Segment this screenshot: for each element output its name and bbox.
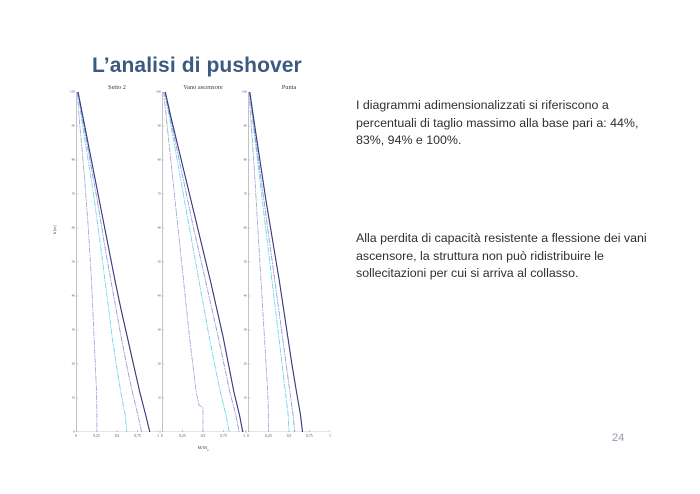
y-tick-label: 80 — [72, 158, 75, 161]
y-tick-label: 10 — [72, 396, 75, 399]
plot-area — [162, 92, 244, 432]
axis-spine — [249, 92, 331, 432]
chart-panel-punta: Punta 1009080706050403020100 00,250,50,7… — [248, 84, 330, 436]
y-tick-label: 30 — [158, 328, 161, 331]
y-tick-label: 10 — [158, 396, 161, 399]
body-paragraph-2: Alla perdita di capacità resistente a fl… — [356, 230, 656, 283]
x-tick-label: 0,5 — [115, 434, 120, 438]
x-tick-labels: 00,250,50,751 — [162, 434, 244, 444]
series-line-94pct — [250, 92, 295, 432]
x-tick-label: 1 — [157, 434, 159, 438]
y-tick-label: 80 — [158, 158, 161, 161]
series-line-83pct — [164, 92, 229, 432]
y-tick-label: 50 — [158, 260, 161, 263]
y-tick-label: 100 — [156, 90, 161, 93]
series-line-83pct — [78, 92, 127, 432]
series-line-83pct — [249, 92, 289, 432]
y-tick-label: 60 — [244, 226, 247, 229]
series-line-100pct — [165, 92, 242, 432]
pushover-chart-figure: h [m] Setto 2 1009080706050403020100 00,… — [58, 84, 336, 466]
x-tick-label: 0,5 — [201, 434, 206, 438]
x-tick-label: 0 — [75, 434, 77, 438]
x-tick-label: 0,5 — [287, 434, 292, 438]
series-line-44pct — [164, 92, 203, 432]
panel-title: Setto 2 — [76, 84, 158, 91]
y-tick-label: 50 — [244, 260, 247, 263]
y-tick-label: 100 — [242, 90, 247, 93]
y-tick-labels: 1009080706050403020100 — [234, 92, 247, 432]
axis-spine — [77, 92, 159, 432]
page-title: L’analisi di pushover — [92, 54, 302, 78]
x-tick-label: 0,25 — [265, 434, 271, 438]
series-line-44pct — [249, 92, 269, 432]
x-tick-label: 0 — [247, 434, 249, 438]
x-tick-label: 0,25 — [93, 434, 99, 438]
y-tick-label: 90 — [158, 124, 161, 127]
y-tick-label: 60 — [72, 226, 75, 229]
y-tick-labels: 1009080706050403020100 — [62, 92, 75, 432]
plot-area — [76, 92, 158, 432]
y-tick-label: 30 — [72, 328, 75, 331]
y-tick-label: 70 — [158, 192, 161, 195]
y-tick-label: 70 — [244, 192, 247, 195]
panel-title: Punta — [248, 84, 330, 91]
y-tick-label: 70 — [72, 192, 75, 195]
y-tick-label: 90 — [72, 124, 75, 127]
panel-title: Vano ascensore — [162, 84, 244, 91]
y-tick-label: 30 — [244, 328, 247, 331]
series-line-100pct — [250, 92, 303, 432]
y-tick-label: 20 — [72, 362, 75, 365]
x-tick-labels: 00,250,50,751 — [248, 434, 330, 444]
y-tick-label: 100 — [70, 90, 75, 93]
chart-panel-setto-2: Setto 2 1009080706050403020100 00,250,50… — [76, 84, 158, 436]
x-tick-label: 1 — [243, 434, 245, 438]
x-tick-labels: 00,250,50,751 — [76, 434, 158, 444]
y-tick-label: 80 — [244, 158, 247, 161]
y-tick-label: 40 — [158, 294, 161, 297]
plot-svg — [76, 92, 158, 432]
y-tick-label: 20 — [158, 362, 161, 365]
series-line-94pct — [165, 92, 239, 432]
series-line-100pct — [78, 92, 150, 432]
x-tick-label: 0,75 — [306, 434, 312, 438]
y-tick-label: 50 — [72, 260, 75, 263]
page-number: 24 — [612, 432, 624, 444]
x-tick-label: 0,25 — [179, 434, 185, 438]
y-axis-title: h [m] — [52, 225, 57, 234]
chart-panel-vano-ascensore: Vano ascensore 1009080706050403020100 00… — [162, 84, 244, 436]
x-tick-label: 0,75 — [220, 434, 226, 438]
plot-area — [248, 92, 330, 432]
presentation-slide: L’analisi di pushover I diagrammi adimen… — [0, 0, 700, 494]
y-tick-label: 60 — [158, 226, 161, 229]
y-tick-label: 40 — [244, 294, 247, 297]
x-axis-title: M/Mu — [162, 445, 244, 452]
x-tick-label: 0,75 — [134, 434, 140, 438]
x-tick-label: 1 — [329, 434, 331, 438]
plot-svg — [162, 92, 244, 432]
y-tick-labels: 1009080706050403020100 — [148, 92, 161, 432]
y-tick-label: 90 — [244, 124, 247, 127]
body-paragraph-1: I diagrammi adimensionalizzati si riferi… — [356, 97, 656, 150]
y-tick-label: 20 — [244, 362, 247, 365]
series-line-94pct — [78, 92, 142, 432]
plot-svg — [248, 92, 330, 432]
x-tick-label: 0 — [161, 434, 163, 438]
y-tick-label: 10 — [244, 396, 247, 399]
y-tick-label: 40 — [72, 294, 75, 297]
series-line-44pct — [77, 92, 97, 432]
